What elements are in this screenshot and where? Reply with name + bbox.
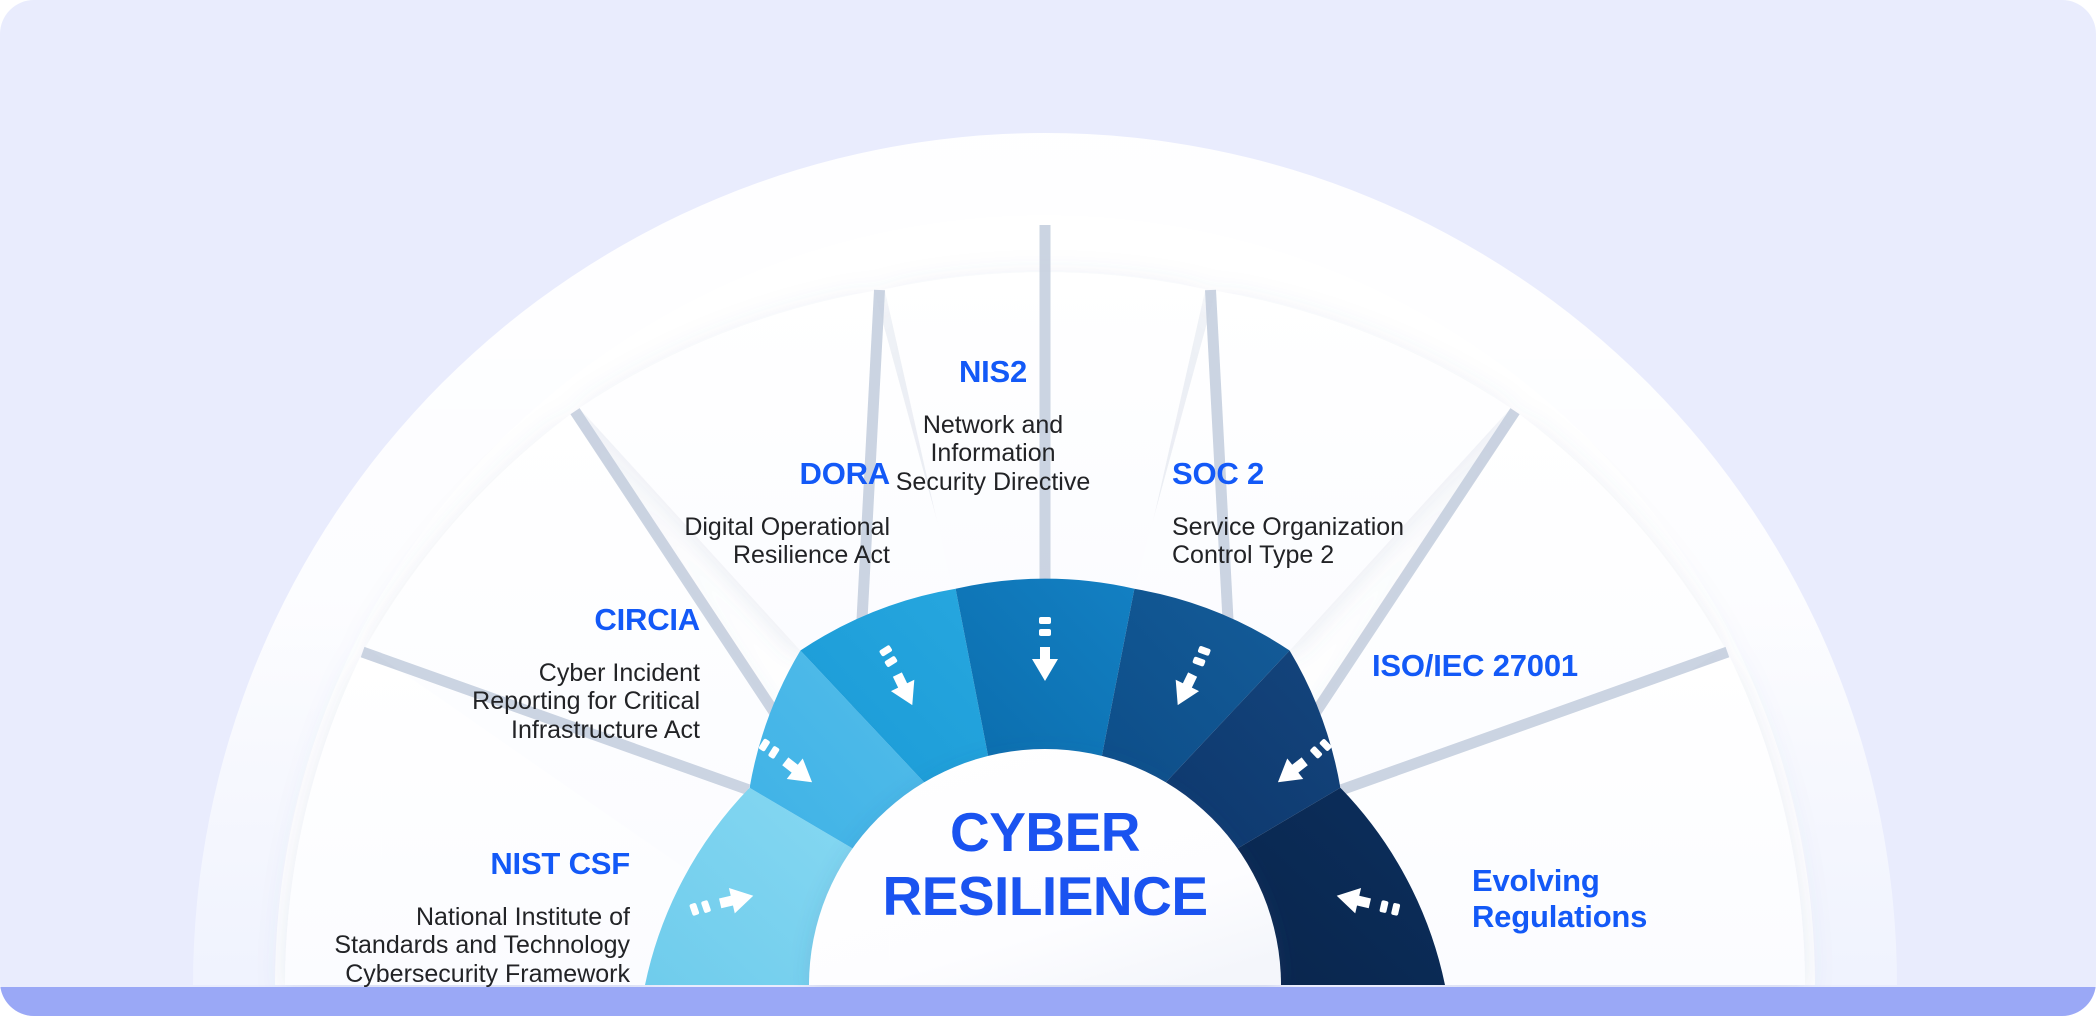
label-soc-2: SOC 2 Service Organization Control Type … (1172, 438, 1472, 588)
center-title-line-2: RESILIENCE (785, 864, 1305, 928)
label-dora-subtitle: Digital Operational Resilience Act (630, 513, 890, 570)
label-soc-2-title: SOC 2 (1172, 456, 1472, 491)
label-nis2: NIS2 Network and Information Security Di… (868, 336, 1118, 515)
center-title: CYBER RESILIENCE (785, 800, 1305, 929)
label-nis2-subtitle: Network and Information Security Directi… (868, 411, 1118, 497)
label-circia: CIRCIA Cyber Incident Reporting for Crit… (430, 584, 700, 763)
label-soc-2-subtitle: Service Organization Control Type 2 (1172, 513, 1472, 570)
infographic-canvas: NIS2 Network and Information Security Di… (0, 0, 2096, 1016)
bottom-accent-bar (0, 987, 2096, 1016)
label-nist-csf: NIST CSF National Institute of Standards… (330, 828, 630, 1007)
label-iso-iec-27001: ISO/IEC 27001 (1372, 630, 1702, 702)
label-iso-iec-27001-title: ISO/IEC 27001 (1372, 648, 1702, 683)
label-nis2-title: NIS2 (868, 354, 1118, 389)
label-dora: DORA Digital Operational Resilience Act (630, 438, 890, 588)
label-nist-csf-subtitle: National Institute of Standards and Tech… (330, 903, 630, 989)
label-evolving-regulations: Evolving Regulations (1472, 845, 1792, 953)
center-title-line-1: CYBER (785, 800, 1305, 864)
label-nist-csf-title: NIST CSF (330, 846, 630, 881)
label-dora-title: DORA (630, 456, 890, 491)
label-circia-title: CIRCIA (430, 602, 700, 637)
label-evolving-regulations-title: Evolving Regulations (1472, 863, 1792, 935)
label-circia-subtitle: Cyber Incident Reporting for Critical In… (430, 659, 700, 745)
